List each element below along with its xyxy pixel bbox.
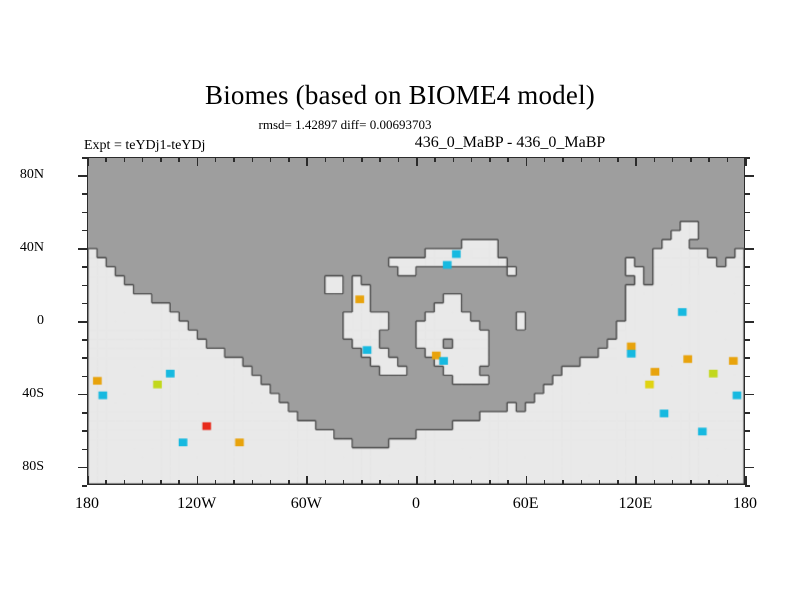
y-tick bbox=[82, 303, 87, 305]
y-tick-right bbox=[745, 412, 750, 414]
y-tick bbox=[82, 285, 87, 287]
y-tick-label-4: 80S bbox=[0, 460, 44, 474]
y-tick-right bbox=[745, 230, 750, 232]
y-tick-right bbox=[745, 357, 750, 359]
x-tick bbox=[325, 480, 327, 485]
y-tick-label-0: 80N bbox=[0, 168, 44, 182]
x-tick bbox=[453, 480, 455, 485]
x-tick bbox=[306, 476, 308, 485]
page-title: Biomes (based on BIOME4 model) bbox=[0, 80, 800, 110]
x-tick-top bbox=[105, 157, 107, 162]
x-tick-top bbox=[544, 157, 546, 162]
x-tick bbox=[398, 480, 400, 485]
x-tick-top bbox=[124, 157, 126, 162]
x-tick-label-4: 60E bbox=[486, 495, 566, 513]
x-tick-top bbox=[581, 157, 583, 162]
y-tick bbox=[78, 394, 87, 396]
x-tick-top bbox=[215, 157, 217, 162]
x-tick bbox=[361, 480, 363, 485]
y-tick-right bbox=[745, 430, 750, 432]
x-tick bbox=[471, 480, 473, 485]
x-tick-top bbox=[471, 157, 473, 162]
y-tick bbox=[78, 467, 87, 469]
x-tick bbox=[124, 480, 126, 485]
x-tick bbox=[142, 480, 144, 485]
y-tick-right bbox=[745, 212, 750, 214]
x-tick-label-2: 60W bbox=[266, 495, 346, 513]
biome-difference-map bbox=[88, 158, 744, 484]
y-tick-right bbox=[745, 449, 750, 451]
x-tick-top bbox=[507, 157, 509, 162]
x-tick-top bbox=[617, 157, 619, 162]
x-tick bbox=[178, 480, 180, 485]
x-tick bbox=[708, 480, 710, 485]
x-tick-top bbox=[416, 157, 418, 166]
x-tick-top bbox=[708, 157, 710, 162]
x-tick-top bbox=[453, 157, 455, 162]
x-tick bbox=[562, 480, 564, 485]
x-tick-top bbox=[142, 157, 144, 162]
x-tick-label-1: 120W bbox=[157, 495, 237, 513]
y-tick bbox=[82, 193, 87, 195]
x-tick bbox=[416, 476, 418, 485]
x-tick bbox=[581, 480, 583, 485]
x-tick-top bbox=[233, 157, 235, 162]
y-tick bbox=[82, 266, 87, 268]
x-tick bbox=[343, 480, 345, 485]
y-tick bbox=[82, 376, 87, 378]
x-tick-top bbox=[252, 157, 254, 162]
x-tick-top bbox=[343, 157, 345, 162]
x-tick bbox=[617, 480, 619, 485]
x-tick-top bbox=[690, 157, 692, 162]
x-tick-top bbox=[727, 157, 729, 162]
y-tick bbox=[78, 321, 87, 323]
y-tick-right bbox=[745, 339, 750, 341]
x-tick bbox=[489, 480, 491, 485]
x-tick-top bbox=[745, 157, 747, 166]
y-tick bbox=[82, 485, 87, 487]
y-tick-right bbox=[745, 321, 754, 323]
x-tick-top bbox=[489, 157, 491, 162]
y-tick-right bbox=[745, 248, 754, 250]
x-tick-top bbox=[599, 157, 601, 162]
y-tick bbox=[82, 212, 87, 214]
x-tick bbox=[434, 480, 436, 485]
x-tick bbox=[526, 476, 528, 485]
x-tick-label-5: 120E bbox=[595, 495, 675, 513]
y-tick-right bbox=[745, 376, 750, 378]
x-tick bbox=[379, 480, 381, 485]
x-tick bbox=[690, 480, 692, 485]
y-tick bbox=[78, 248, 87, 250]
x-tick-top bbox=[270, 157, 272, 162]
x-tick bbox=[288, 480, 290, 485]
x-tick bbox=[215, 480, 217, 485]
x-tick-top bbox=[562, 157, 564, 162]
x-tick-top bbox=[672, 157, 674, 162]
x-tick-top bbox=[654, 157, 656, 162]
x-tick bbox=[599, 480, 601, 485]
x-tick bbox=[233, 480, 235, 485]
y-tick bbox=[82, 430, 87, 432]
y-tick-label-1: 40N bbox=[0, 241, 44, 255]
y-tick-right bbox=[745, 285, 750, 287]
y-tick bbox=[82, 357, 87, 359]
x-tick-top bbox=[178, 157, 180, 162]
x-tick bbox=[544, 480, 546, 485]
x-tick bbox=[105, 480, 107, 485]
y-tick-right bbox=[745, 467, 754, 469]
x-tick bbox=[197, 476, 199, 485]
map-plot-area bbox=[87, 157, 745, 485]
x-tick-top bbox=[526, 157, 528, 166]
y-tick bbox=[82, 449, 87, 451]
y-tick-label-2: 0 bbox=[0, 314, 44, 328]
x-tick-top bbox=[361, 157, 363, 162]
x-tick bbox=[654, 480, 656, 485]
x-tick-label-3: 0 bbox=[376, 495, 456, 513]
y-tick bbox=[82, 339, 87, 341]
x-tick bbox=[252, 480, 254, 485]
x-tick-top bbox=[288, 157, 290, 162]
x-tick bbox=[87, 476, 89, 485]
y-tick-right bbox=[745, 303, 750, 305]
y-tick bbox=[78, 175, 87, 177]
x-tick-label-6: 180 bbox=[705, 495, 785, 513]
y-tick bbox=[82, 230, 87, 232]
x-tick-top bbox=[635, 157, 637, 166]
figure-root: Biomes (based on BIOME4 model) rmsd= 1.4… bbox=[0, 0, 800, 600]
x-tick-top bbox=[325, 157, 327, 162]
y-tick-right bbox=[745, 175, 754, 177]
x-tick-top bbox=[87, 157, 89, 166]
y-tick-right bbox=[745, 193, 750, 195]
x-tick bbox=[270, 480, 272, 485]
period-label: 436_0_MaBP - 436_0_MaBP bbox=[0, 134, 800, 152]
x-tick-top bbox=[160, 157, 162, 162]
x-tick bbox=[160, 480, 162, 485]
y-tick-right bbox=[745, 266, 750, 268]
statistics-line: rmsd= 1.42897 diff= 0.00693703 bbox=[0, 117, 690, 132]
x-tick bbox=[635, 476, 637, 485]
x-tick-top bbox=[379, 157, 381, 162]
x-tick-top bbox=[306, 157, 308, 166]
x-tick bbox=[507, 480, 509, 485]
x-tick-label-0: 180 bbox=[47, 495, 127, 513]
y-tick bbox=[82, 412, 87, 414]
y-tick-right bbox=[745, 394, 754, 396]
y-tick-right bbox=[745, 485, 750, 487]
y-tick-label-3: 40S bbox=[0, 387, 44, 401]
x-tick-top bbox=[398, 157, 400, 162]
x-tick bbox=[672, 480, 674, 485]
x-tick bbox=[745, 476, 747, 485]
x-tick-top bbox=[434, 157, 436, 162]
x-tick bbox=[727, 480, 729, 485]
x-tick-top bbox=[197, 157, 199, 166]
